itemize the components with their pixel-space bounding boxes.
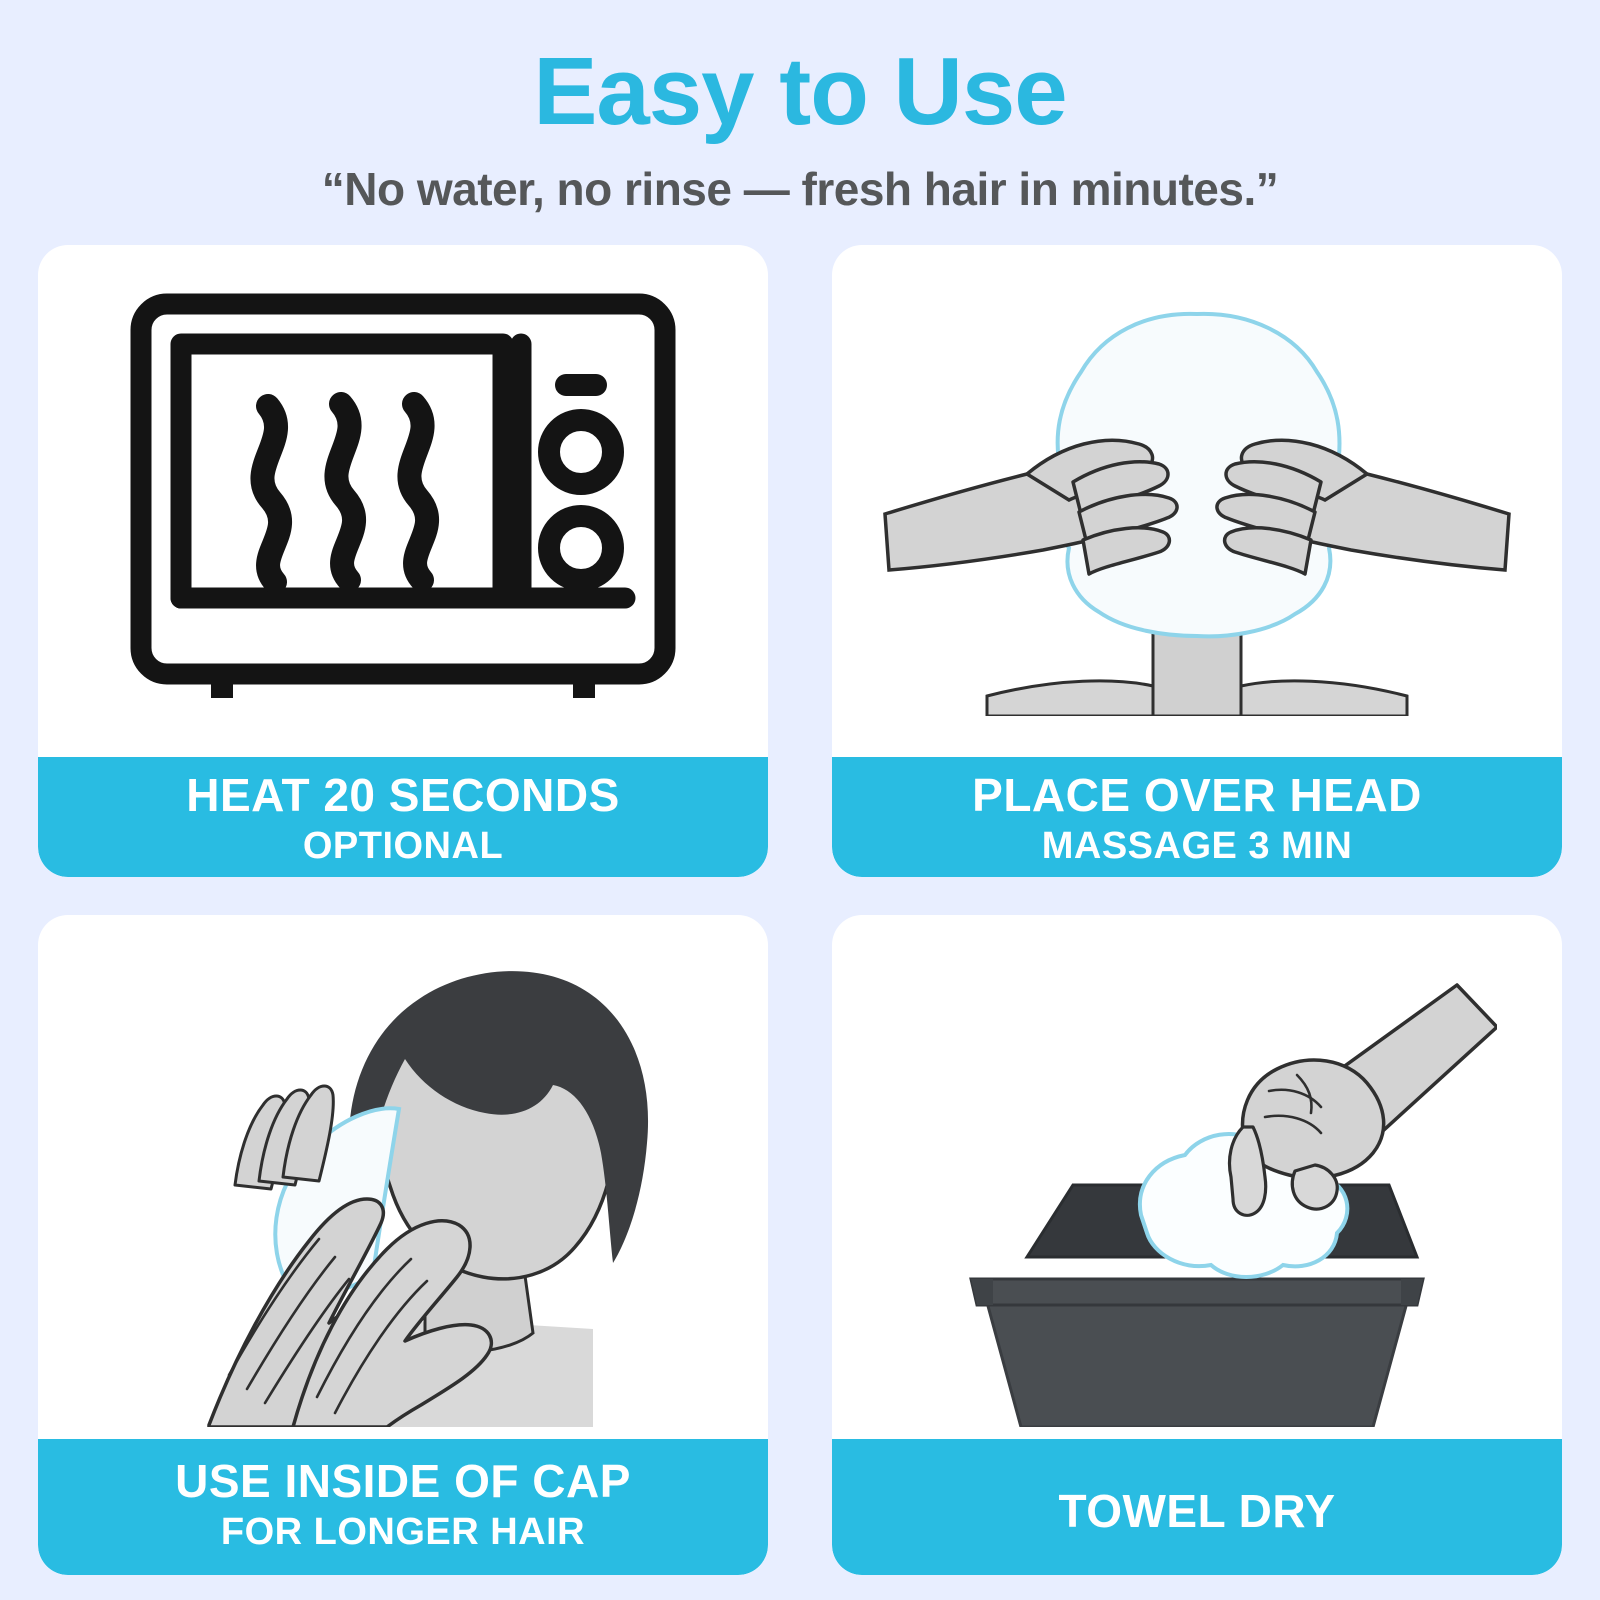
hands-massaging-head-icon — [877, 286, 1517, 716]
step-caption-inside-cap: USE INSIDE OF CAP FOR LONGER HAIR — [38, 1439, 768, 1575]
page-header: Easy to Use “No water, no rinse — fresh … — [0, 0, 1600, 216]
step-illustration-heat — [38, 245, 768, 757]
step-title: TOWEL DRY — [842, 1457, 1552, 1537]
microwave-icon — [123, 286, 683, 716]
step-illustration-inside-cap — [38, 915, 768, 1439]
step-subtitle: OPTIONAL — [48, 821, 758, 869]
page-subtitle: “No water, no rinse — fresh hair in minu… — [0, 140, 1600, 216]
step-caption-place: PLACE OVER HEAD MASSAGE 3 MIN — [832, 757, 1562, 877]
page-title: Easy to Use — [0, 0, 1600, 140]
step-caption-towel-dry: TOWEL DRY — [832, 1439, 1562, 1575]
step-card-place[interactable]: PLACE OVER HEAD MASSAGE 3 MIN — [832, 245, 1562, 877]
step-title: PLACE OVER HEAD — [842, 771, 1552, 821]
step-card-towel-dry[interactable]: TOWEL DRY — [832, 915, 1562, 1575]
step-card-inside-cap[interactable]: USE INSIDE OF CAP FOR LONGER HAIR — [38, 915, 768, 1575]
infographic-page: Easy to Use “No water, no rinse — fresh … — [0, 0, 1600, 1600]
steps-grid: HEAT 20 SECONDS OPTIONAL — [38, 245, 1562, 1575]
step-subtitle: FOR LONGER HAIR — [48, 1507, 758, 1555]
step-illustration-place — [832, 245, 1562, 757]
step-subtitle: MASSAGE 3 MIN — [842, 821, 1552, 869]
step-title: USE INSIDE OF CAP — [48, 1457, 758, 1507]
step-illustration-towel-dry — [832, 915, 1562, 1439]
step-title: HEAT 20 SECONDS — [48, 771, 758, 821]
step-card-heat[interactable]: HEAT 20 SECONDS OPTIONAL — [38, 245, 768, 877]
hands-pressing-cap-profile-icon — [123, 927, 683, 1427]
hand-dropping-cap-into-bin-icon — [897, 927, 1497, 1427]
step-caption-heat: HEAT 20 SECONDS OPTIONAL — [38, 757, 768, 877]
